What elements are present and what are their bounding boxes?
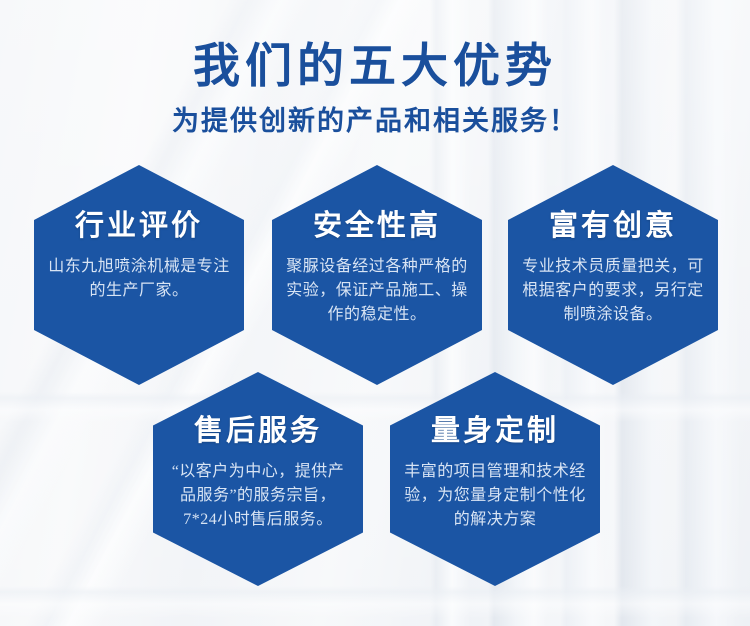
promo-banner: 我们的五大优势 为提供创新的产品和相关服务！ 行业评价 山东九旭喷涂机械是专注的… [0,0,750,626]
advantage-desc-4: “以客户为中心，提供产品服务”的服务宗旨，7*24小时售后服务。 [153,460,363,532]
advantage-title-1: 行业评价 [34,209,244,243]
advantage-card-1[interactable]: 行业评价 山东九旭喷涂机械是专注的生产厂家。 [34,165,244,385]
advantage-title-3: 富有创意 [508,209,718,243]
advantage-card-5[interactable]: 量身定制 丰富的项目管理和技术经验，为您量身定制个性化的解决方案 [390,372,600,586]
page-title: 我们的五大优势 [0,38,750,96]
advantage-desc-2: 聚脲设备经过各种严格的实验，保证产品施工、操作的稳定性。 [272,255,482,327]
advantage-card-3[interactable]: 富有创意 专业技术员质量把关，可根据客户的要求，另行定制喷涂设备。 [508,165,718,385]
advantage-desc-5: 丰富的项目管理和技术经验，为您量身定制个性化的解决方案 [390,460,600,532]
advantage-desc-3: 专业技术员质量把关，可根据客户的要求，另行定制喷涂设备。 [508,255,718,327]
advantage-card-2[interactable]: 安全性高 聚脲设备经过各种严格的实验，保证产品施工、操作的稳定性。 [272,165,482,385]
advantage-title-4: 售后服务 [153,414,363,448]
advantage-card-4[interactable]: 售后服务 “以客户为中心，提供产品服务”的服务宗旨，7*24小时售后服务。 [153,372,363,586]
advantage-title-2: 安全性高 [272,209,482,243]
advantage-title-5: 量身定制 [390,414,600,448]
advantage-desc-1: 山东九旭喷涂机械是专注的生产厂家。 [34,255,244,303]
page-subtitle: 为提供创新的产品和相关服务！ [0,104,750,138]
header-block: 我们的五大优势 为提供创新的产品和相关服务！ [0,38,750,138]
